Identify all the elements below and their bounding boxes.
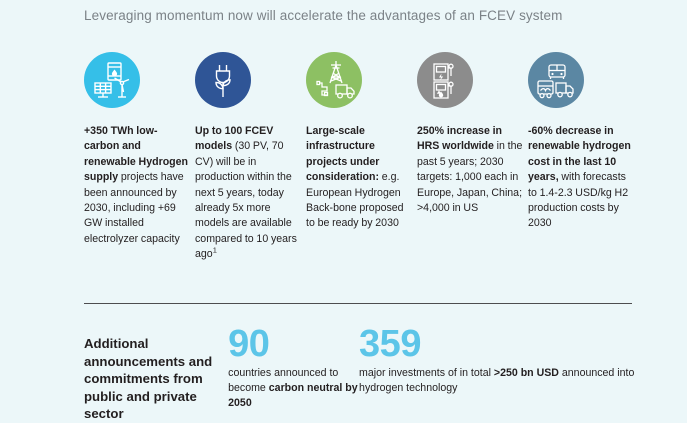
stat-countries: 90 countries announced to become carbon … [228, 325, 359, 411]
fuel-pumps-icon [417, 52, 473, 108]
bottom-heading: Additional announcements and commitments… [84, 325, 228, 423]
column-body: Up to 100 FCEV models (30 PV, 70 CV) wil… [195, 124, 302, 263]
bottom-summary: Additional announcements and commitments… [84, 325, 664, 423]
stat-investments: 359 major investments of in total >250 b… [359, 325, 636, 396]
stat-number: 359 [359, 325, 636, 363]
column-infrastructure: Large-scale infrastructure projects unde… [306, 52, 413, 263]
column-fcev-models: Up to 100 FCEV models (30 PV, 70 CV) wil… [195, 52, 302, 263]
column-bold-text: Large-scale infrastructure projects unde… [306, 125, 379, 183]
stat-desc-bold: >250 bn USD [494, 367, 559, 379]
column-rest-text: (30 PV, 70 CV) will be in production wit… [195, 140, 297, 260]
column-body: -60% decrease in renewable hydrogen cost… [528, 124, 635, 232]
stat-desc-pre: major investments of in total [359, 367, 494, 379]
column-hrs-stations: 250% increase in HRS worldwide in the pa… [417, 52, 524, 263]
plug-plant-icon [195, 52, 251, 108]
pylon-pipeline-truck-icon [306, 52, 362, 108]
footnote-marker: 1 [213, 246, 217, 255]
column-renewable-supply: +350 TWh low-carbon and renewable Hydrog… [84, 52, 191, 263]
infographic-page: Leveraging momentum now will accelerate … [0, 0, 687, 414]
section-divider [84, 303, 632, 304]
column-body: +350 TWh low-carbon and renewable Hydrog… [84, 124, 191, 247]
renewable-energy-icon [84, 52, 140, 108]
page-title: Leveraging momentum now will accelerate … [84, 8, 644, 23]
column-bold-text: 250% increase in HRS worldwide [417, 125, 502, 152]
column-body: Large-scale infrastructure projects unde… [306, 124, 413, 232]
stat-description: major investments of in total >250 bn US… [359, 366, 636, 396]
stat-columns: +350 TWh low-carbon and renewable Hydrog… [84, 52, 636, 263]
stat-number: 90 [228, 325, 359, 363]
column-hydrogen-cost: -60% decrease in renewable hydrogen cost… [528, 52, 635, 263]
stat-description: countries announced to become carbon neu… [228, 366, 359, 411]
column-body: 250% increase in HRS worldwide in the pa… [417, 124, 524, 216]
vehicles-icon [528, 52, 584, 108]
